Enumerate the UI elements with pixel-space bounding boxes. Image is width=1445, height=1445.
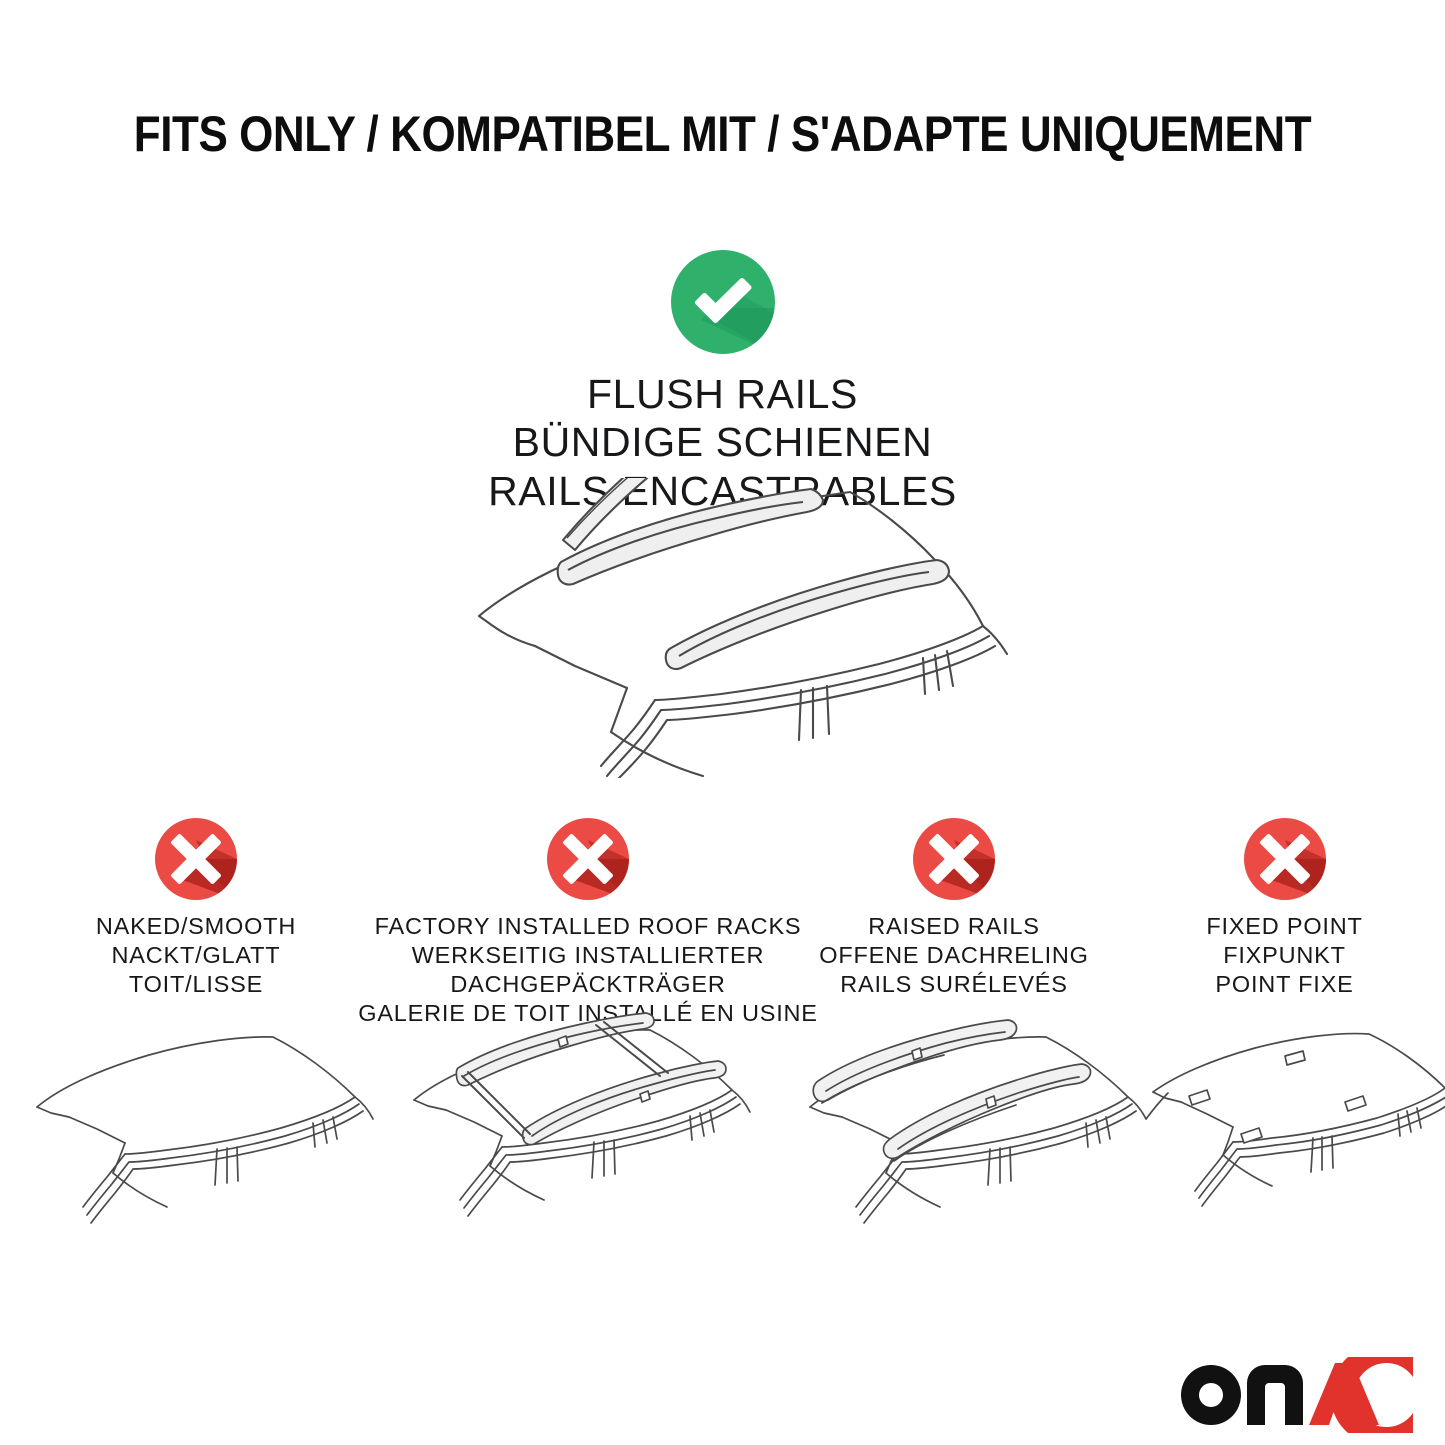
incompatible-item-factory-roof-racks: FACTORY INSTALLED ROOF RACKS WERKSEITIG … — [392, 818, 784, 1029]
incompatible-line: POINT FIXE — [1206, 970, 1362, 999]
incompatible-item-raised-rails: RAISED RAILS OFFENE DACHRELING RAILS SUR… — [784, 818, 1124, 1029]
car-roof-naked-smooth-illustration — [25, 1025, 385, 1260]
incompatible-line: NAKED/SMOOTH — [96, 912, 296, 941]
car-roof-fixed-point-illustration — [1145, 1030, 1445, 1245]
incompatible-item-naked-smooth: NAKED/SMOOTH NACKT/GLATT TOIT/LISSE — [0, 818, 392, 1029]
compatible-line-2: BÜNDIGE SCHIENEN — [488, 418, 957, 466]
compatibility-infographic: FITS ONLY / KOMPATIBEL MIT / S'ADAPTE UN… — [0, 0, 1445, 1445]
car-roof-factory-installed-roof-racks-illustration — [400, 1000, 760, 1258]
incompatible-line: RAILS SURÉLEVÉS — [819, 970, 1089, 999]
car-roof-with-flush-rails-illustration — [455, 478, 1015, 778]
incompatible-line: NACKT/GLATT — [96, 941, 296, 970]
incompatible-caption: FIXED POINT FIXPUNKT POINT FIXE — [1206, 912, 1362, 999]
incompatible-row: NAKED/SMOOTH NACKT/GLATT TOIT/LISSE FA — [0, 818, 1445, 1029]
x-circle-icon — [155, 818, 237, 900]
incompatible-caption: NAKED/SMOOTH NACKT/GLATT TOIT/LISSE — [96, 912, 296, 999]
incompatible-line: OFFENE DACHRELING — [819, 941, 1089, 970]
incompatible-line: DACHGEPÄCKTRÄGER — [358, 970, 818, 999]
incompatible-line: WERKSEITIG INSTALLIERTER — [358, 941, 818, 970]
x-circle-icon — [1244, 818, 1326, 900]
check-circle-icon — [671, 250, 775, 354]
logo-letter-m — [1247, 1365, 1303, 1425]
incompatible-caption: RAISED RAILS OFFENE DACHRELING RAILS SUR… — [819, 912, 1089, 999]
incompatible-line: FIXPUNKT — [1206, 941, 1362, 970]
incompatible-line: RAISED RAILS — [819, 912, 1089, 941]
logo-letter-o — [1181, 1365, 1241, 1425]
compatible-line-1: FLUSH RAILS — [488, 370, 957, 418]
incompatible-line: FIXED POINT — [1206, 912, 1362, 941]
incompatible-item-fixed-point: FIXED POINT FIXPUNKT POINT FIXE — [1124, 818, 1445, 1029]
page-title: FITS ONLY / KOMPATIBEL MIT / S'ADAPTE UN… — [87, 105, 1359, 163]
x-circle-icon — [547, 818, 629, 900]
omac-logo — [1175, 1357, 1415, 1433]
incompatible-line: FACTORY INSTALLED ROOF RACKS — [358, 912, 818, 941]
car-roof-raised-rails-illustration — [800, 1015, 1170, 1260]
compatible-block: FLUSH RAILS BÜNDIGE SCHIENEN RAILS ENCAS… — [0, 250, 1445, 515]
incompatible-line: TOIT/LISSE — [96, 970, 296, 999]
x-circle-icon — [913, 818, 995, 900]
